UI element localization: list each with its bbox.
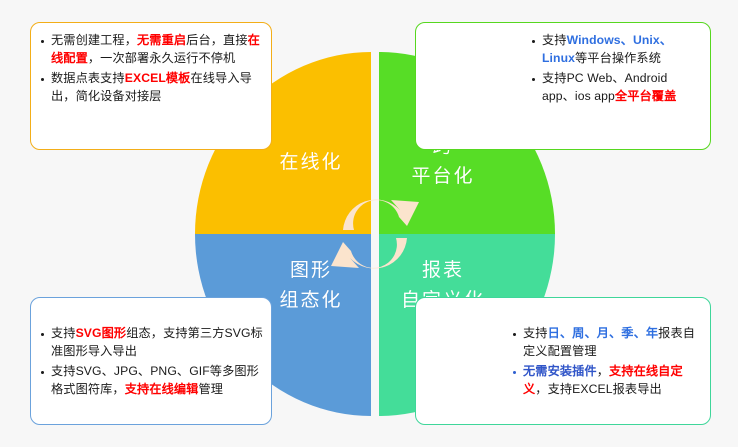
callout-text-segment: 数据点表支持 bbox=[51, 71, 125, 85]
quadrant-label-graphic-config-line1: 图形 bbox=[255, 256, 367, 286]
quadrant-label-cross-platform-line2: 平台化 bbox=[387, 162, 499, 192]
callout-graphic-config-list: 支持SVG图形组态，支持第三方SVG标准图形导入导出支持SVG、JPG、PNG、… bbox=[40, 325, 263, 398]
callout-text-segment: 日、周、月、季、年 bbox=[548, 326, 659, 340]
callout-online: 无需创建工程，无需重启后台，直接在线配置，一次部署永久运行不停机数据点表支持EX… bbox=[30, 22, 272, 150]
callout-text-segment: 支持在线编辑 bbox=[125, 382, 199, 396]
callout-text-segment: 管理 bbox=[198, 382, 223, 396]
callout-text-segment: 全平台覆盖 bbox=[615, 89, 676, 103]
callout-bullet: 无需创建工程，无需重启后台，直接在线配置，一次部署永久运行不停机 bbox=[40, 32, 263, 67]
callout-text-segment: ， bbox=[597, 364, 609, 378]
callout-online-list: 无需创建工程，无需重启后台，直接在线配置，一次部署永久运行不停机数据点表支持EX… bbox=[40, 32, 263, 105]
quadrant-label-online: 在线化 bbox=[255, 148, 367, 178]
callout-text-segment: SVG图形 bbox=[76, 326, 127, 340]
callout-text-segment: 支持 bbox=[523, 326, 548, 340]
callout-text-segment: ，一次部署永久运行不停机 bbox=[88, 51, 235, 65]
callout-report-custom: 支持日、周、月、季、年报表自定义配置管理无需安装插件，支持在线自定义，支持EXC… bbox=[415, 297, 711, 425]
callout-text-segment: 无需创建工程， bbox=[51, 33, 137, 47]
callout-text-segment: 后台，直接 bbox=[186, 33, 247, 47]
callout-bullet: 支持Windows、Unix、Linux等平台操作系统 bbox=[531, 32, 700, 67]
callout-text-segment: 支持 bbox=[51, 326, 76, 340]
callout-text-segment: 无需安装插件 bbox=[523, 364, 597, 378]
callout-bullet: 支持SVG图形组态，支持第三方SVG标准图形导入导出 bbox=[40, 325, 263, 360]
callout-text-segment: 无需重启 bbox=[137, 33, 186, 47]
quadrant-label-report-custom-line1: 报表 bbox=[387, 256, 499, 286]
callout-cross-platform: 支持Windows、Unix、Linux等平台操作系统支持PC Web、Andr… bbox=[415, 22, 711, 150]
callout-graphic-config: 支持SVG图形组态，支持第三方SVG标准图形导入导出支持SVG、JPG、PNG、… bbox=[30, 297, 272, 425]
four-quadrant-feature-infographic: 在线化 跨 平台化 图形 组态化 报表 自定义化 无需创建工程，无需重启后台，直… bbox=[0, 0, 738, 447]
callout-text-segment: 支持 bbox=[542, 33, 567, 47]
callout-bullet: 数据点表支持EXCEL模板在线导入导出，简化设备对接层 bbox=[40, 70, 263, 105]
callout-report-custom-list: 支持日、周、月、季、年报表自定义配置管理无需安装插件，支持在线自定义，支持EXC… bbox=[512, 325, 700, 398]
callout-bullet: 支持PC Web、Android app、ios app全平台覆盖 bbox=[531, 70, 700, 105]
callout-text-segment: 等平台操作系统 bbox=[575, 51, 661, 65]
callout-bullet: 支持SVG、JPG、PNG、GIF等多图形格式图符库，支持在线编辑管理 bbox=[40, 363, 263, 398]
callout-text-segment: ，支持EXCEL报表导出 bbox=[535, 382, 661, 396]
quadrant-label-online-line2: 在线化 bbox=[255, 148, 367, 178]
callout-bullet: 支持日、周、月、季、年报表自定义配置管理 bbox=[512, 325, 700, 360]
callout-cross-platform-list: 支持Windows、Unix、Linux等平台操作系统支持PC Web、Andr… bbox=[531, 32, 700, 105]
callout-bullet: 无需安装插件，支持在线自定义，支持EXCEL报表导出 bbox=[512, 363, 700, 398]
callout-text-segment: EXCEL模板 bbox=[125, 71, 191, 85]
